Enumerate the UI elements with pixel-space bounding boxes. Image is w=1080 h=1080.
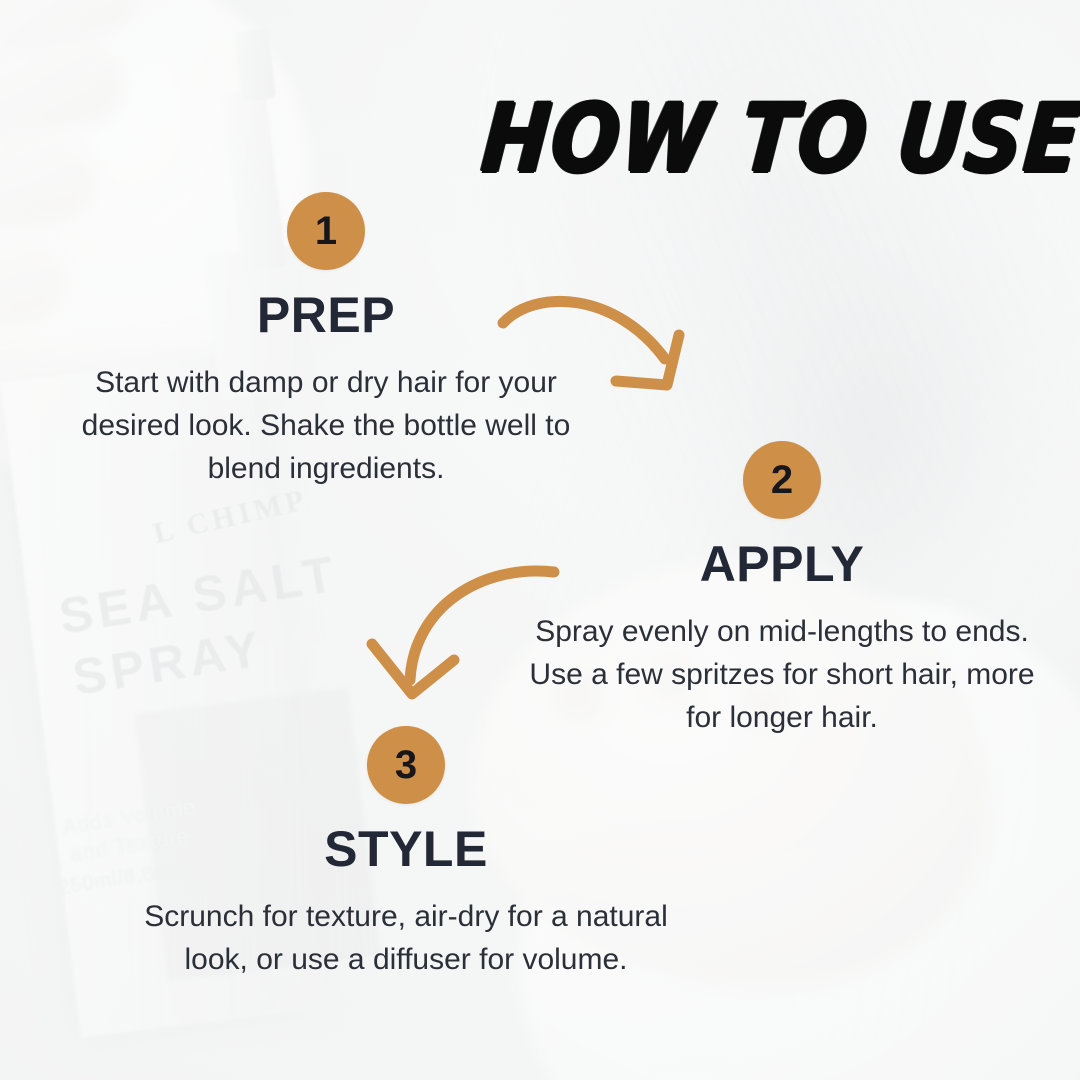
step-3-description: Scrunch for texture, air-dry for a natur… — [122, 896, 690, 982]
step-3-title: STYLE — [122, 824, 690, 874]
step-2-description: Spray evenly on mid-lengths to ends. Use… — [512, 611, 1052, 740]
page-title: HOW TO USE — [479, 92, 1017, 186]
step-2-apply: 2 APPLY Spray evenly on mid-lengths to e… — [512, 441, 1052, 740]
step-2-title: APPLY — [512, 539, 1052, 589]
infographic-content: HOW TO USE 1 PREP Start with damp or dry… — [0, 0, 1080, 1080]
step-3-number-badge: 3 — [367, 726, 445, 804]
step-1-number-badge: 1 — [287, 192, 365, 270]
step-1-title: PREP — [46, 290, 606, 340]
step-2-number-badge: 2 — [743, 441, 821, 519]
step-3-style: 3 STYLE Scrunch for texture, air-dry for… — [122, 726, 690, 982]
how-to-use-infographic: L CHIMP SEA SALT SPRAY Adds Volume and T… — [0, 0, 1080, 1080]
